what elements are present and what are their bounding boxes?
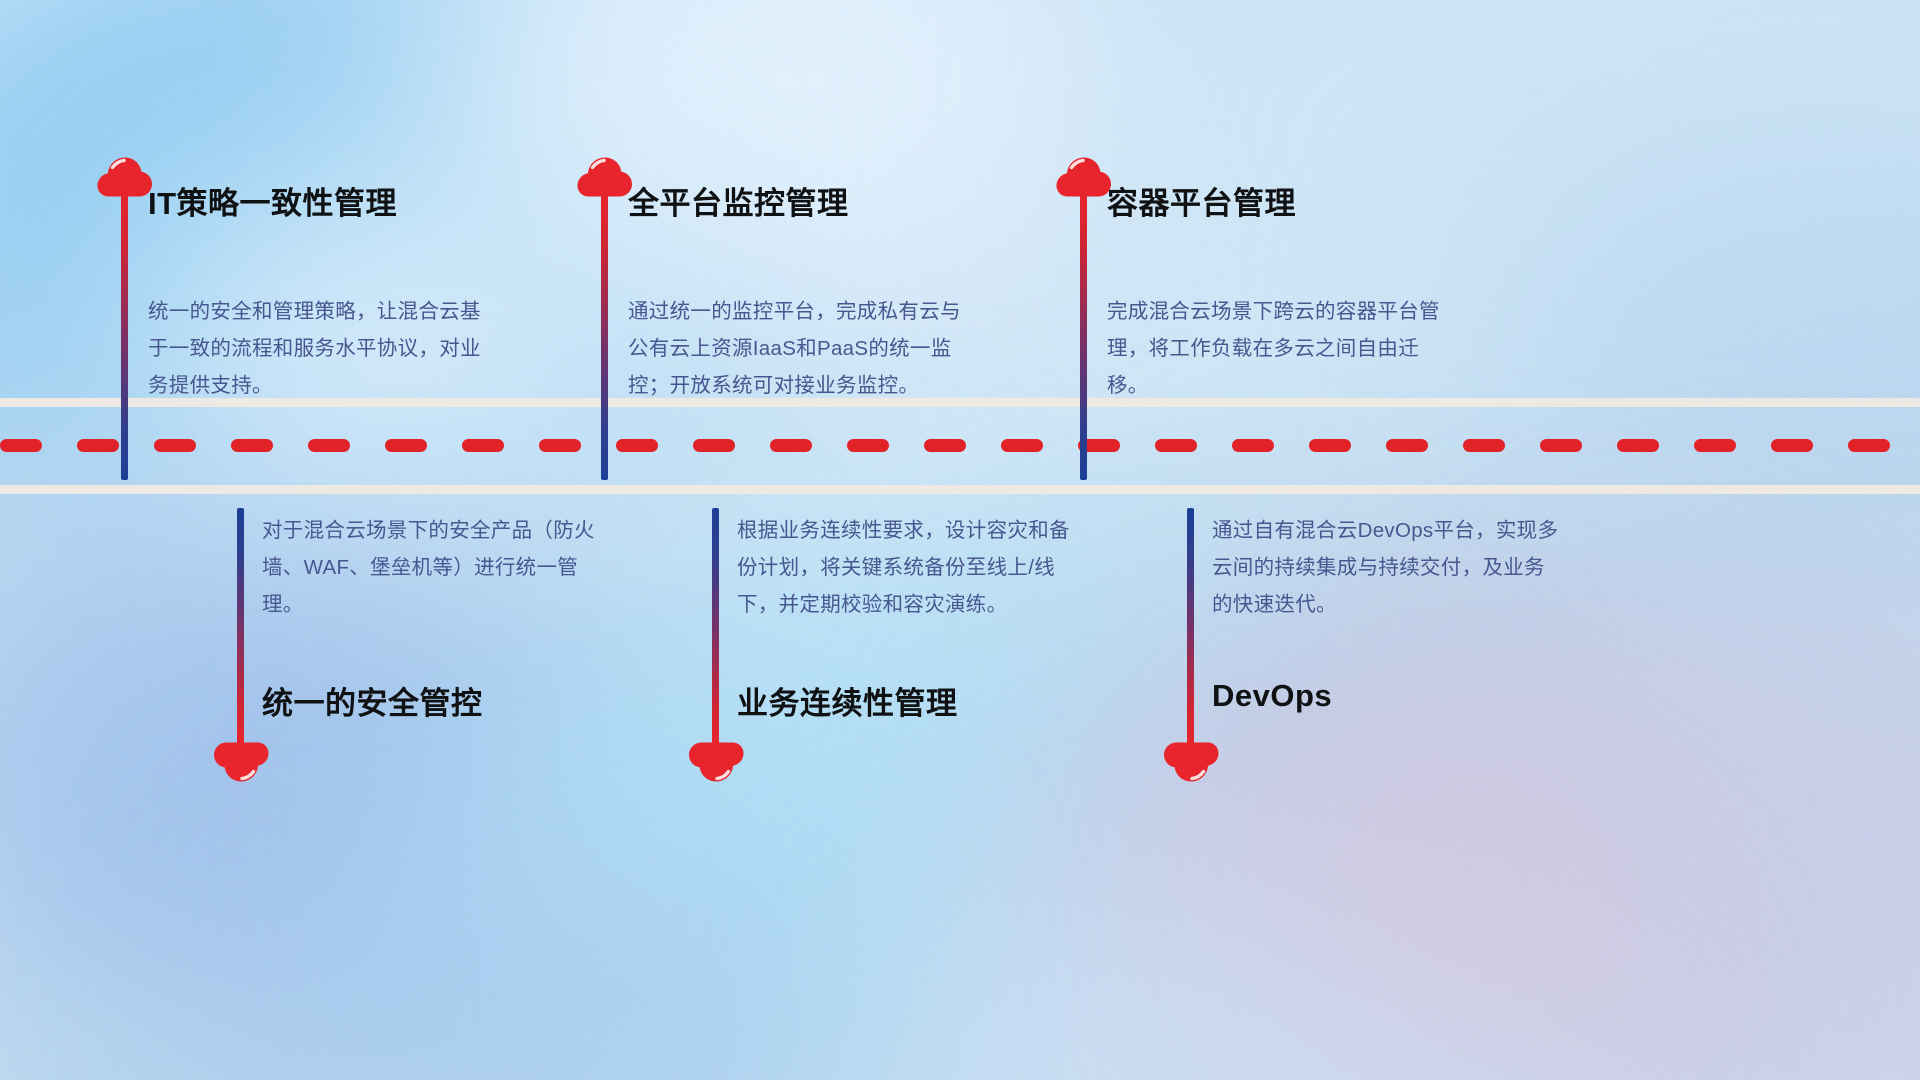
- column-body-text: 统一的安全和管理策略，让混合云基于一致的流程和服务水平协议，对业务提供支持。: [148, 293, 500, 404]
- column-body-text: 对于混合云场景下的安全产品（防火墙、WAF、堡垒机等）进行统一管理。: [262, 512, 614, 623]
- pin-stem: [237, 508, 244, 744]
- background-blob: [1250, 760, 1710, 1060]
- feature-column-container-platform: 容器平台管理 完成混合云场景下跨云的容器平台管理，将工作负载在多云之间自由迁移。: [1055, 0, 1695, 490]
- feature-column-devops: 通过自有混合云DevOps平台，实现多云间的持续集成与持续交付，及业务的快速迭代…: [1060, 500, 1700, 800]
- road-dash: [1771, 439, 1813, 452]
- pin-marker: [576, 155, 634, 480]
- cloud-icon: [1162, 740, 1220, 784]
- pin-stem: [601, 193, 608, 480]
- column-title: IT策略一致性管理: [148, 178, 397, 223]
- pin-marker: [1055, 155, 1113, 480]
- column-title: 业务连续性管理: [737, 678, 958, 723]
- column-body-text: 根据业务连续性要求，设计容灾和备份计划，将关键系统备份至线上/线下，并定期校验和…: [737, 512, 1089, 623]
- column-title: 容器平台管理: [1107, 178, 1296, 223]
- pin-marker: [96, 155, 154, 480]
- column-title: 统一的安全管控: [262, 678, 483, 723]
- column-body-text: 完成混合云场景下跨云的容器平台管理，将工作负载在多云之间自由迁移。: [1107, 293, 1459, 404]
- column-body-text: 通过统一的监控平台，完成私有云与公有云上资源IaaS和PaaS的统一监控；开放系…: [628, 293, 980, 404]
- road-dash: [1694, 439, 1736, 452]
- pin-stem: [712, 508, 719, 744]
- column-body-text: 通过自有混合云DevOps平台，实现多云间的持续集成与持续交付，及业务的快速迭代…: [1212, 512, 1564, 623]
- pin-stem: [1187, 508, 1194, 744]
- pin-stem: [1080, 193, 1087, 480]
- pin-stem: [121, 193, 128, 480]
- column-title: DevOps: [1212, 678, 1332, 714]
- cloud-icon: [687, 740, 745, 784]
- column-title: 全平台监控管理: [628, 178, 849, 223]
- road-dash: [1848, 439, 1890, 452]
- cloud-icon: [212, 740, 270, 784]
- feature-column-platform-monitoring: 全平台监控管理 通过统一的监控平台，完成私有云与公有云上资源IaaS和PaaS的…: [480, 0, 1120, 490]
